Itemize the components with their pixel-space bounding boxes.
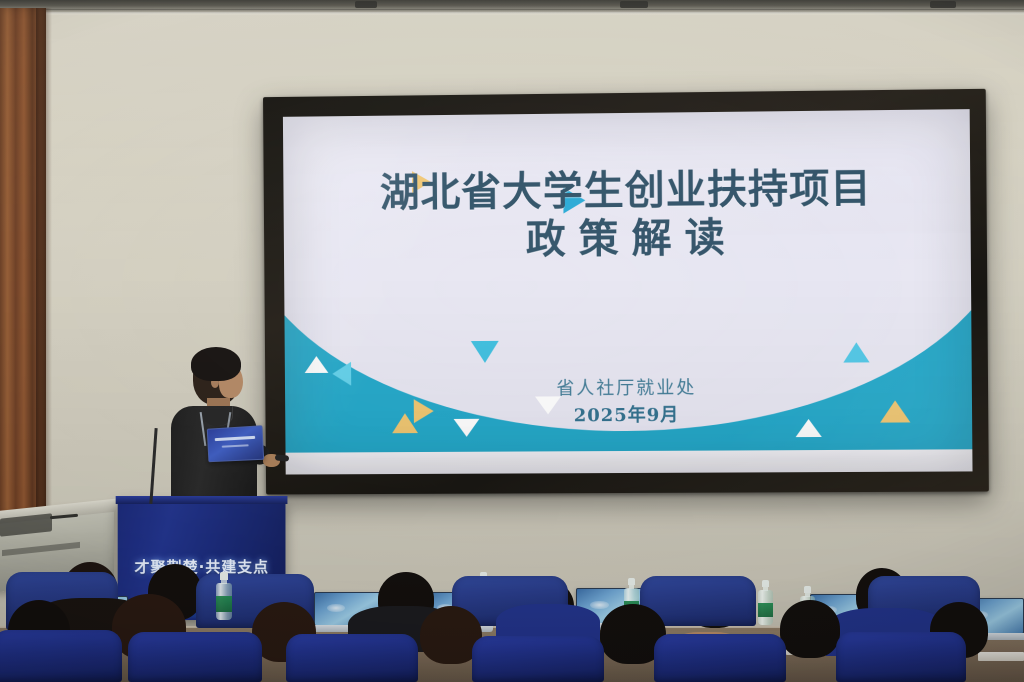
paper-sheet <box>786 646 832 655</box>
water-bottle <box>800 586 815 630</box>
podium-laptop-text-line <box>215 436 255 441</box>
table-surface <box>0 628 1024 682</box>
laptop-glint <box>437 604 454 612</box>
projection-screen[interactable]: 湖北省大学生创业扶持项目 政策解读 <box>283 109 973 474</box>
window-curtain <box>0 8 46 526</box>
bottle-body <box>216 583 232 620</box>
slide-subtitle-org: 省人社厅就业处 <box>285 374 972 404</box>
laptop-glint <box>70 608 88 616</box>
bottle-cap <box>628 578 635 585</box>
decor-triangle-cyan-right-icon <box>843 342 869 362</box>
bottle-cap <box>480 572 487 579</box>
bottle-body <box>758 590 773 625</box>
slide-title-line-2: 政策解读 <box>284 211 971 266</box>
decor-cluster-left <box>283 109 970 117</box>
decor-triangle-white-left-icon <box>305 356 329 373</box>
audience-laptop <box>810 594 872 628</box>
paper-sheet <box>978 652 1024 661</box>
decor-cluster-right <box>283 109 970 117</box>
slide-subtitle-date: 2025年9月 <box>285 400 972 431</box>
bottle-cap <box>804 586 811 593</box>
bottle-cap <box>220 572 228 580</box>
bottle-neck <box>481 578 486 583</box>
presentation-slide: 湖北省大学生创业扶持项目 政策解读 <box>283 109 973 474</box>
laptop-glint <box>822 606 838 614</box>
laptop-glint <box>972 611 988 620</box>
bottle-label <box>476 595 491 610</box>
paper-sheet <box>740 640 792 649</box>
bottle-label <box>758 603 773 618</box>
water-bottle <box>476 572 491 618</box>
audience-laptop <box>960 598 1024 634</box>
audience-laptop <box>56 596 128 630</box>
ceiling-fixture <box>355 1 377 8</box>
water-bottle <box>944 584 959 628</box>
podium-sub-slogan: 湖北省就业创业服务活动 <box>118 578 286 587</box>
podium-laptop-text-line <box>222 444 249 447</box>
bottle-cap <box>762 580 769 587</box>
slide-title-block: 湖北省大学生创业扶持项目 政策解读 <box>283 165 971 266</box>
bottle-cap <box>948 584 955 591</box>
podium-slogan: 才聚荆楚·共建支点 <box>118 556 286 577</box>
bottle-body <box>476 582 491 618</box>
water-bottle <box>624 578 639 623</box>
slide-bottom-bar <box>286 449 973 474</box>
decor-triangle-cyan-down-icon <box>471 341 499 363</box>
presenter-hair <box>191 347 241 381</box>
laptop-glint <box>590 601 609 610</box>
water-bottle <box>758 580 773 625</box>
laptop-glint <box>327 604 345 612</box>
projection-screen-frame: 湖北省大学生创业扶持项目 政策解读 <box>263 89 989 495</box>
bottle-label <box>216 596 232 612</box>
bottle-label <box>944 606 959 620</box>
audience-laptop <box>314 592 384 626</box>
ceiling-track <box>0 0 1024 10</box>
water-bottle-podium <box>216 572 232 620</box>
bottle-label <box>624 601 639 616</box>
ceiling-fixture <box>620 1 648 8</box>
slide-subtitle-block: 省人社厅就业处 2025年9月 <box>285 374 972 431</box>
bottle-body <box>624 588 639 623</box>
podium-top-surface <box>116 496 288 504</box>
bottle-label <box>800 608 815 622</box>
ceiling-fixture <box>930 1 956 8</box>
podium-laptop-screen <box>207 425 264 462</box>
bottle-body <box>944 594 959 628</box>
slide-title-line-1: 湖北省大学生创业扶持项目 <box>283 165 970 217</box>
conference-room-photo: 湖北省大学生创业扶持项目 政策解读 <box>0 0 1024 682</box>
bottle-body <box>800 596 815 630</box>
